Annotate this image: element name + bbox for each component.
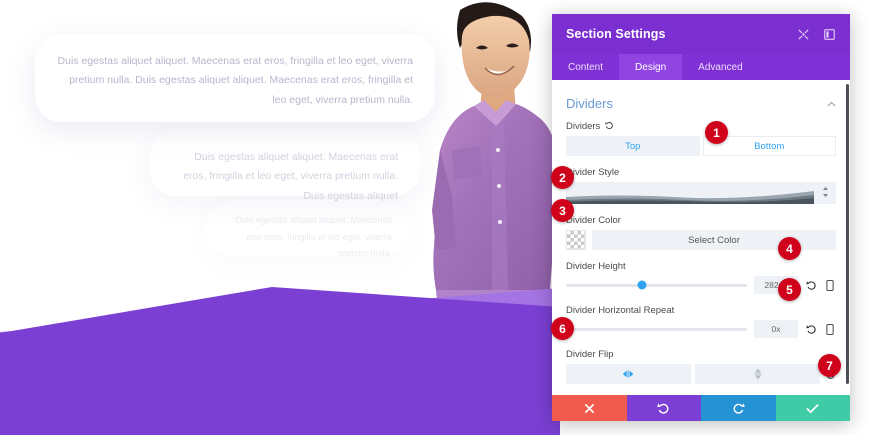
field-divider-flip-label: Divider Flip bbox=[566, 349, 836, 360]
divider-horizontal-repeat-device-icon[interactable] bbox=[824, 324, 836, 335]
divider-height-undo-icon[interactable] bbox=[805, 280, 817, 291]
flip-vertical-icon[interactable] bbox=[695, 364, 820, 384]
tab-content[interactable]: Content bbox=[552, 54, 619, 80]
divider-height-device-icon[interactable] bbox=[824, 280, 836, 291]
field-divider-style: Divider Style bbox=[566, 167, 836, 204]
divider-horizontal-repeat-row: 0x bbox=[566, 320, 836, 338]
field-dividers-label-row: Dividers bbox=[566, 121, 836, 132]
field-dividers: Dividers Top Bottom bbox=[566, 121, 836, 156]
layout-icon[interactable] bbox=[822, 27, 836, 41]
divider-style-preview bbox=[566, 182, 814, 204]
dividers-section-title: Dividers bbox=[566, 96, 613, 111]
tab-advanced[interactable]: Advanced bbox=[682, 54, 758, 80]
step-badge-7: 7 bbox=[818, 354, 841, 377]
select-arrows-icon bbox=[814, 186, 836, 200]
field-divider-horizontal-repeat-label: Divider Horizontal Repeat bbox=[566, 305, 836, 316]
step-badge-6: 6 bbox=[551, 317, 574, 340]
chevron-up-icon[interactable] bbox=[827, 99, 836, 109]
color-swatch-transparent[interactable] bbox=[566, 230, 586, 250]
panel-action-bar bbox=[552, 395, 850, 421]
divider-horizontal-repeat-value[interactable]: 0x bbox=[754, 320, 798, 338]
step-badge-3: 3 bbox=[551, 199, 574, 222]
divider-style-select[interactable] bbox=[566, 182, 836, 204]
content-card-1: Duis egestas aliquet aliquet. Maecenas e… bbox=[35, 34, 435, 122]
divider-horizontal-repeat-slider[interactable] bbox=[566, 328, 747, 331]
divider-height-slider[interactable] bbox=[566, 284, 747, 287]
screenshot-root: Duis egestas aliquet aliquet. Maecenas e… bbox=[0, 0, 880, 435]
divider-height-slider-knob[interactable] bbox=[638, 281, 647, 290]
cancel-button[interactable] bbox=[552, 395, 627, 421]
panel-body: Dividers Dividers bbox=[552, 80, 850, 395]
undo-button[interactable] bbox=[627, 395, 702, 421]
field-divider-style-label: Divider Style bbox=[566, 167, 836, 178]
panel-header: Section Settings bbox=[552, 14, 850, 54]
field-dividers-label: Dividers bbox=[566, 121, 600, 132]
panel-scroll-content: Dividers Dividers bbox=[552, 80, 850, 395]
step-badge-5: 5 bbox=[778, 278, 801, 301]
dividers-option-top[interactable]: Top bbox=[566, 136, 700, 156]
undo-icon[interactable] bbox=[605, 121, 614, 132]
dividers-section-header[interactable]: Dividers bbox=[566, 80, 836, 121]
page-preview-canvas: Duis egestas aliquet aliquet. Maecenas e… bbox=[0, 0, 560, 435]
panel-scrollbar[interactable] bbox=[846, 84, 849, 384]
field-divider-horizontal-repeat: Divider Horizontal Repeat 0x bbox=[566, 305, 836, 338]
panel-tabs: Content Design Advanced bbox=[552, 54, 850, 80]
section-settings-panel: Section Settings Content Design bbox=[552, 14, 850, 421]
dividers-toggle: Top Bottom bbox=[566, 136, 836, 156]
content-card-2: Duis egestas aliquet aliquet. Maecenas e… bbox=[150, 130, 420, 196]
step-badge-4: 4 bbox=[778, 237, 801, 260]
field-divider-height-label: Divider Height bbox=[566, 261, 836, 272]
divider-flip-row bbox=[566, 364, 836, 384]
panel-title: Section Settings bbox=[566, 27, 666, 41]
content-card-1-text: Duis egestas aliquet aliquet. Maecenas e… bbox=[58, 55, 413, 106]
divider-horizontal-repeat-undo-icon[interactable] bbox=[805, 324, 817, 335]
save-button[interactable] bbox=[776, 395, 851, 421]
expand-icon[interactable] bbox=[796, 27, 810, 41]
panel-header-icons bbox=[796, 27, 836, 41]
field-divider-color-label: Divider Color bbox=[566, 215, 836, 226]
step-badge-1: 1 bbox=[705, 121, 728, 144]
step-badge-2: 2 bbox=[551, 166, 574, 189]
redo-button[interactable] bbox=[701, 395, 776, 421]
flip-horizontal-icon[interactable] bbox=[566, 364, 691, 384]
divider-shape-front bbox=[0, 245, 560, 435]
tab-design[interactable]: Design bbox=[619, 54, 682, 80]
field-divider-flip: Divider Flip bbox=[566, 349, 836, 384]
content-card-2-text: Duis egestas aliquet aliquet. Maecenas e… bbox=[183, 151, 398, 202]
